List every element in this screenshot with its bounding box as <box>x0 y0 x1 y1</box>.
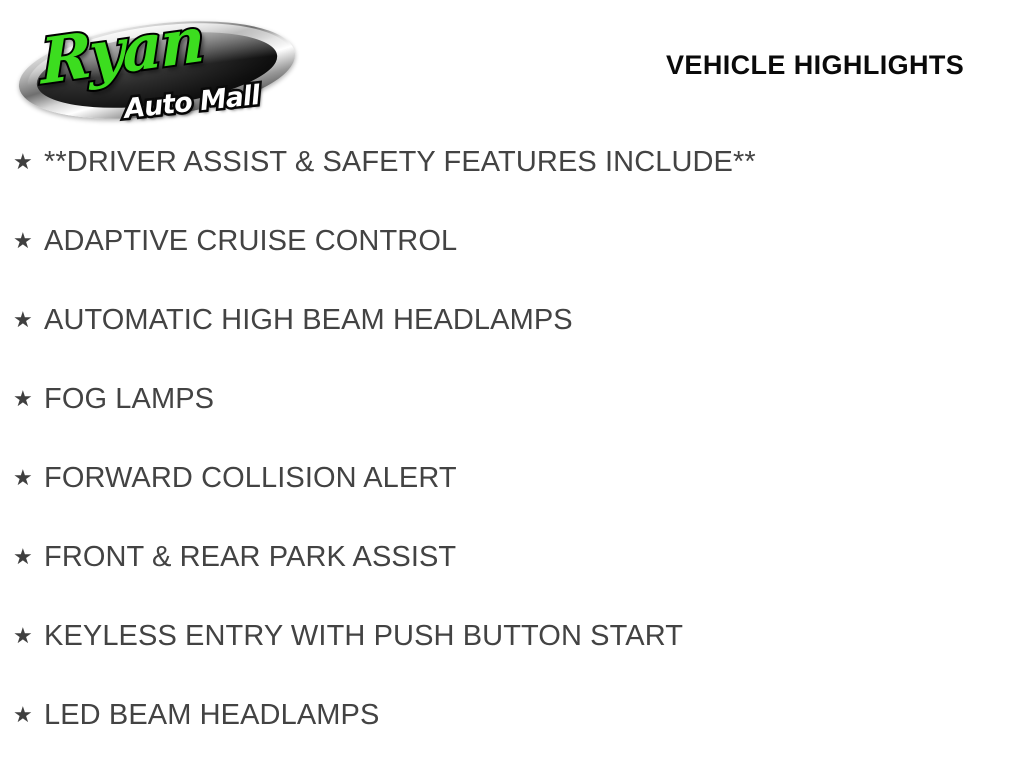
highlight-label: ADAPTIVE CRUISE CONTROL <box>44 224 457 258</box>
page-header: Ryan Auto Mall VEHICLE HIGHLIGHTS <box>0 0 1024 136</box>
star-bullet-icon: ★ <box>13 540 34 574</box>
list-item: ★FOG LAMPS <box>0 382 1024 461</box>
star-bullet-icon: ★ <box>13 698 34 732</box>
star-bullet-icon: ★ <box>13 461 34 495</box>
list-item: ★FRONT & REAR PARK ASSIST <box>0 540 1024 619</box>
highlight-label: FORWARD COLLISION ALERT <box>44 461 457 495</box>
list-item: ★ADAPTIVE CRUISE CONTROL <box>0 224 1024 303</box>
highlight-label: LED BEAM HEADLAMPS <box>44 698 379 732</box>
star-bullet-icon: ★ <box>13 224 34 258</box>
highlight-label: FRONT & REAR PARK ASSIST <box>44 540 456 574</box>
star-bullet-icon: ★ <box>13 619 34 653</box>
star-bullet-icon: ★ <box>13 145 34 179</box>
list-item: ★KEYLESS ENTRY WITH PUSH BUTTON START <box>0 619 1024 698</box>
list-item: ★**DRIVER ASSIST & SAFETY FEATURES INCLU… <box>0 145 1024 224</box>
page-title: VEHICLE HIGHLIGHTS <box>666 50 964 81</box>
highlight-label: **DRIVER ASSIST & SAFETY FEATURES INCLUD… <box>44 145 756 179</box>
dealership-logo[interactable]: Ryan Auto Mall <box>14 8 300 126</box>
highlight-label: KEYLESS ENTRY WITH PUSH BUTTON START <box>44 619 683 653</box>
vehicle-highlights-list: ★**DRIVER ASSIST & SAFETY FEATURES INCLU… <box>0 145 1024 768</box>
star-bullet-icon: ★ <box>13 303 34 337</box>
list-item: ★LED BEAM HEADLAMPS <box>0 698 1024 768</box>
list-item: ★AUTOMATIC HIGH BEAM HEADLAMPS <box>0 303 1024 382</box>
list-item: ★FORWARD COLLISION ALERT <box>0 461 1024 540</box>
highlight-label: FOG LAMPS <box>44 382 214 416</box>
star-bullet-icon: ★ <box>13 382 34 416</box>
highlight-label: AUTOMATIC HIGH BEAM HEADLAMPS <box>44 303 573 337</box>
